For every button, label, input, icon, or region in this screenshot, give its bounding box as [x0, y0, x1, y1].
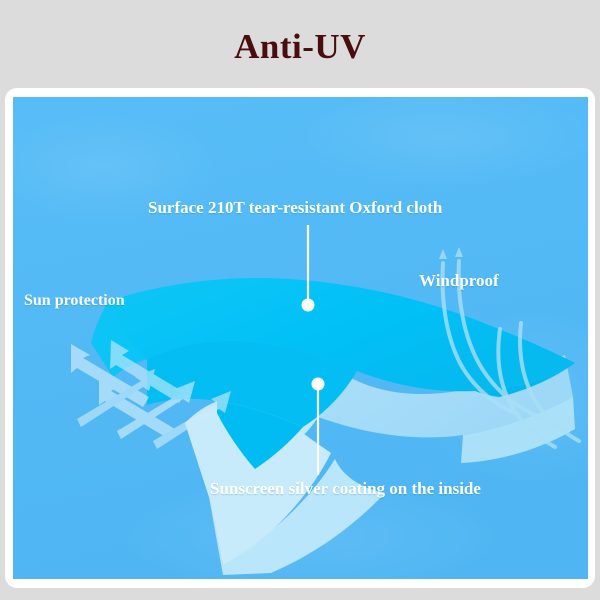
label-windproof: Windproof	[419, 272, 499, 289]
callout-dot-surface	[302, 299, 315, 312]
label-sun-protection: Sun protection	[24, 293, 125, 309]
label-surface-material: Surface 210T tear-resistant Oxford cloth	[148, 199, 442, 216]
page-title: Anti-UV	[234, 29, 366, 64]
callout-dot-coating	[312, 378, 325, 391]
anti-uv-infographic: Anti-UV	[0, 0, 600, 600]
illustration-canvas	[13, 97, 588, 579]
title-bar: Anti-UV	[0, 0, 600, 92]
label-inner-coating: Sunscreen silver coating on the inside	[210, 480, 481, 497]
